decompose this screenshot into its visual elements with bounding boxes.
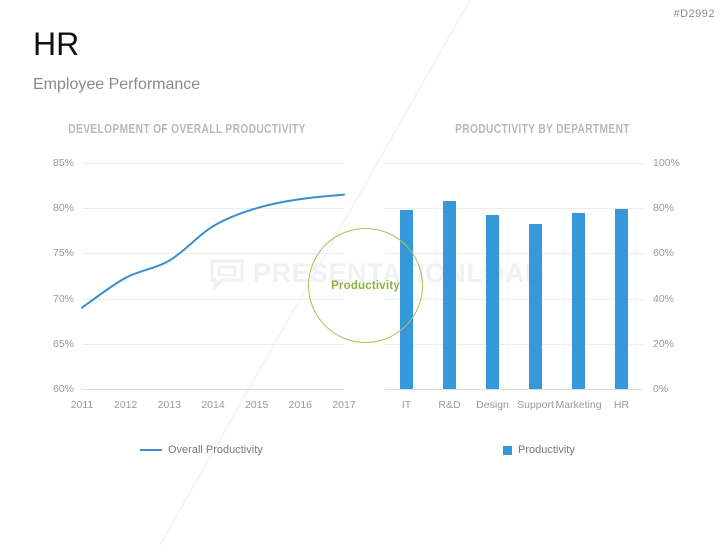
bar-chart-y-tick: 60%	[653, 247, 674, 259]
bar-chart-x-tick: Support	[517, 399, 554, 411]
legend-label-overall-productivity: Overall Productivity	[168, 444, 263, 456]
page-subtitle: Employee Performance	[33, 76, 200, 94]
bar-chart-gridline	[385, 253, 643, 254]
line-chart-x-tick: 2016	[289, 399, 312, 411]
bar-chart-y-tick: 40%	[653, 293, 674, 305]
bar-chart-x-tick: HR	[614, 399, 629, 411]
bar-chart-gridline	[385, 344, 643, 345]
bar-chart: PRODUCTIVITY BY DEPARTMENT 0%20%40%60%80…	[380, 122, 705, 412]
line-chart-y-tick: 60%	[53, 383, 74, 395]
bar-chart-y-tick: 100%	[653, 157, 680, 169]
line-chart-x-tick: 2011	[71, 399, 94, 411]
bar-chart-plot-area: 0%20%40%60%80%100%ITR&DDesignSupportMark…	[385, 163, 643, 389]
bar-design	[486, 215, 499, 389]
legend-label-productivity: Productivity	[518, 444, 575, 456]
bar-chart-x-tick: Marketing	[555, 399, 601, 411]
bar-chart-y-tick: 0%	[653, 383, 668, 395]
productivity-callout: Productivity	[308, 228, 423, 343]
legend-line-swatch	[140, 449, 162, 451]
productivity-callout-label: Productivity	[331, 280, 400, 292]
overall-productivity-line	[82, 163, 344, 389]
slide-code: #D2992	[673, 8, 715, 20]
line-chart-gridline	[82, 389, 344, 390]
bar-chart-x-tick: IT	[402, 399, 411, 411]
bar-chart-x-tick: R&D	[438, 399, 460, 411]
bar-r-d	[443, 201, 456, 389]
line-chart-x-tick: 2012	[114, 399, 137, 411]
bar-chart-gridline	[385, 208, 643, 209]
line-chart-legend: Overall Productivity	[140, 444, 263, 456]
bar-chart-y-tick: 20%	[653, 338, 674, 350]
line-chart-y-tick: 70%	[53, 293, 74, 305]
line-chart-plot-area: 60%65%70%75%80%85%2011201220132014201520…	[82, 163, 344, 389]
line-chart-y-tick: 65%	[53, 338, 74, 350]
legend-box-swatch	[503, 446, 512, 455]
bar-chart-gridline	[385, 163, 643, 164]
bar-hr	[615, 209, 628, 389]
page-title: HR	[33, 28, 79, 60]
bar-chart-title: PRODUCTIVITY BY DEPARTMENT	[409, 122, 676, 136]
bar-chart-legend: Productivity	[503, 444, 575, 456]
bar-chart-gridline	[385, 389, 643, 390]
line-chart-y-tick: 75%	[53, 247, 74, 259]
bar-support	[529, 224, 542, 389]
line-chart-x-tick: 2017	[332, 399, 355, 411]
line-chart-x-tick: 2013	[158, 399, 181, 411]
line-chart-y-tick: 85%	[53, 157, 74, 169]
line-chart-title: DEVELOPMENT OF OVERALL PRODUCTIVITY	[52, 122, 323, 136]
slide: #D2992 HR Employee Performance PRESENTAT…	[0, 0, 727, 545]
bar-chart-y-tick: 80%	[653, 202, 674, 214]
line-chart-x-tick: 2015	[245, 399, 268, 411]
line-chart-y-tick: 80%	[53, 202, 74, 214]
bar-chart-gridline	[385, 299, 643, 300]
line-chart-x-tick: 2014	[201, 399, 224, 411]
line-chart: DEVELOPMENT OF OVERALL PRODUCTIVITY 60%6…	[22, 122, 352, 412]
bar-marketing	[572, 213, 585, 389]
bar-chart-x-tick: Design	[476, 399, 509, 411]
